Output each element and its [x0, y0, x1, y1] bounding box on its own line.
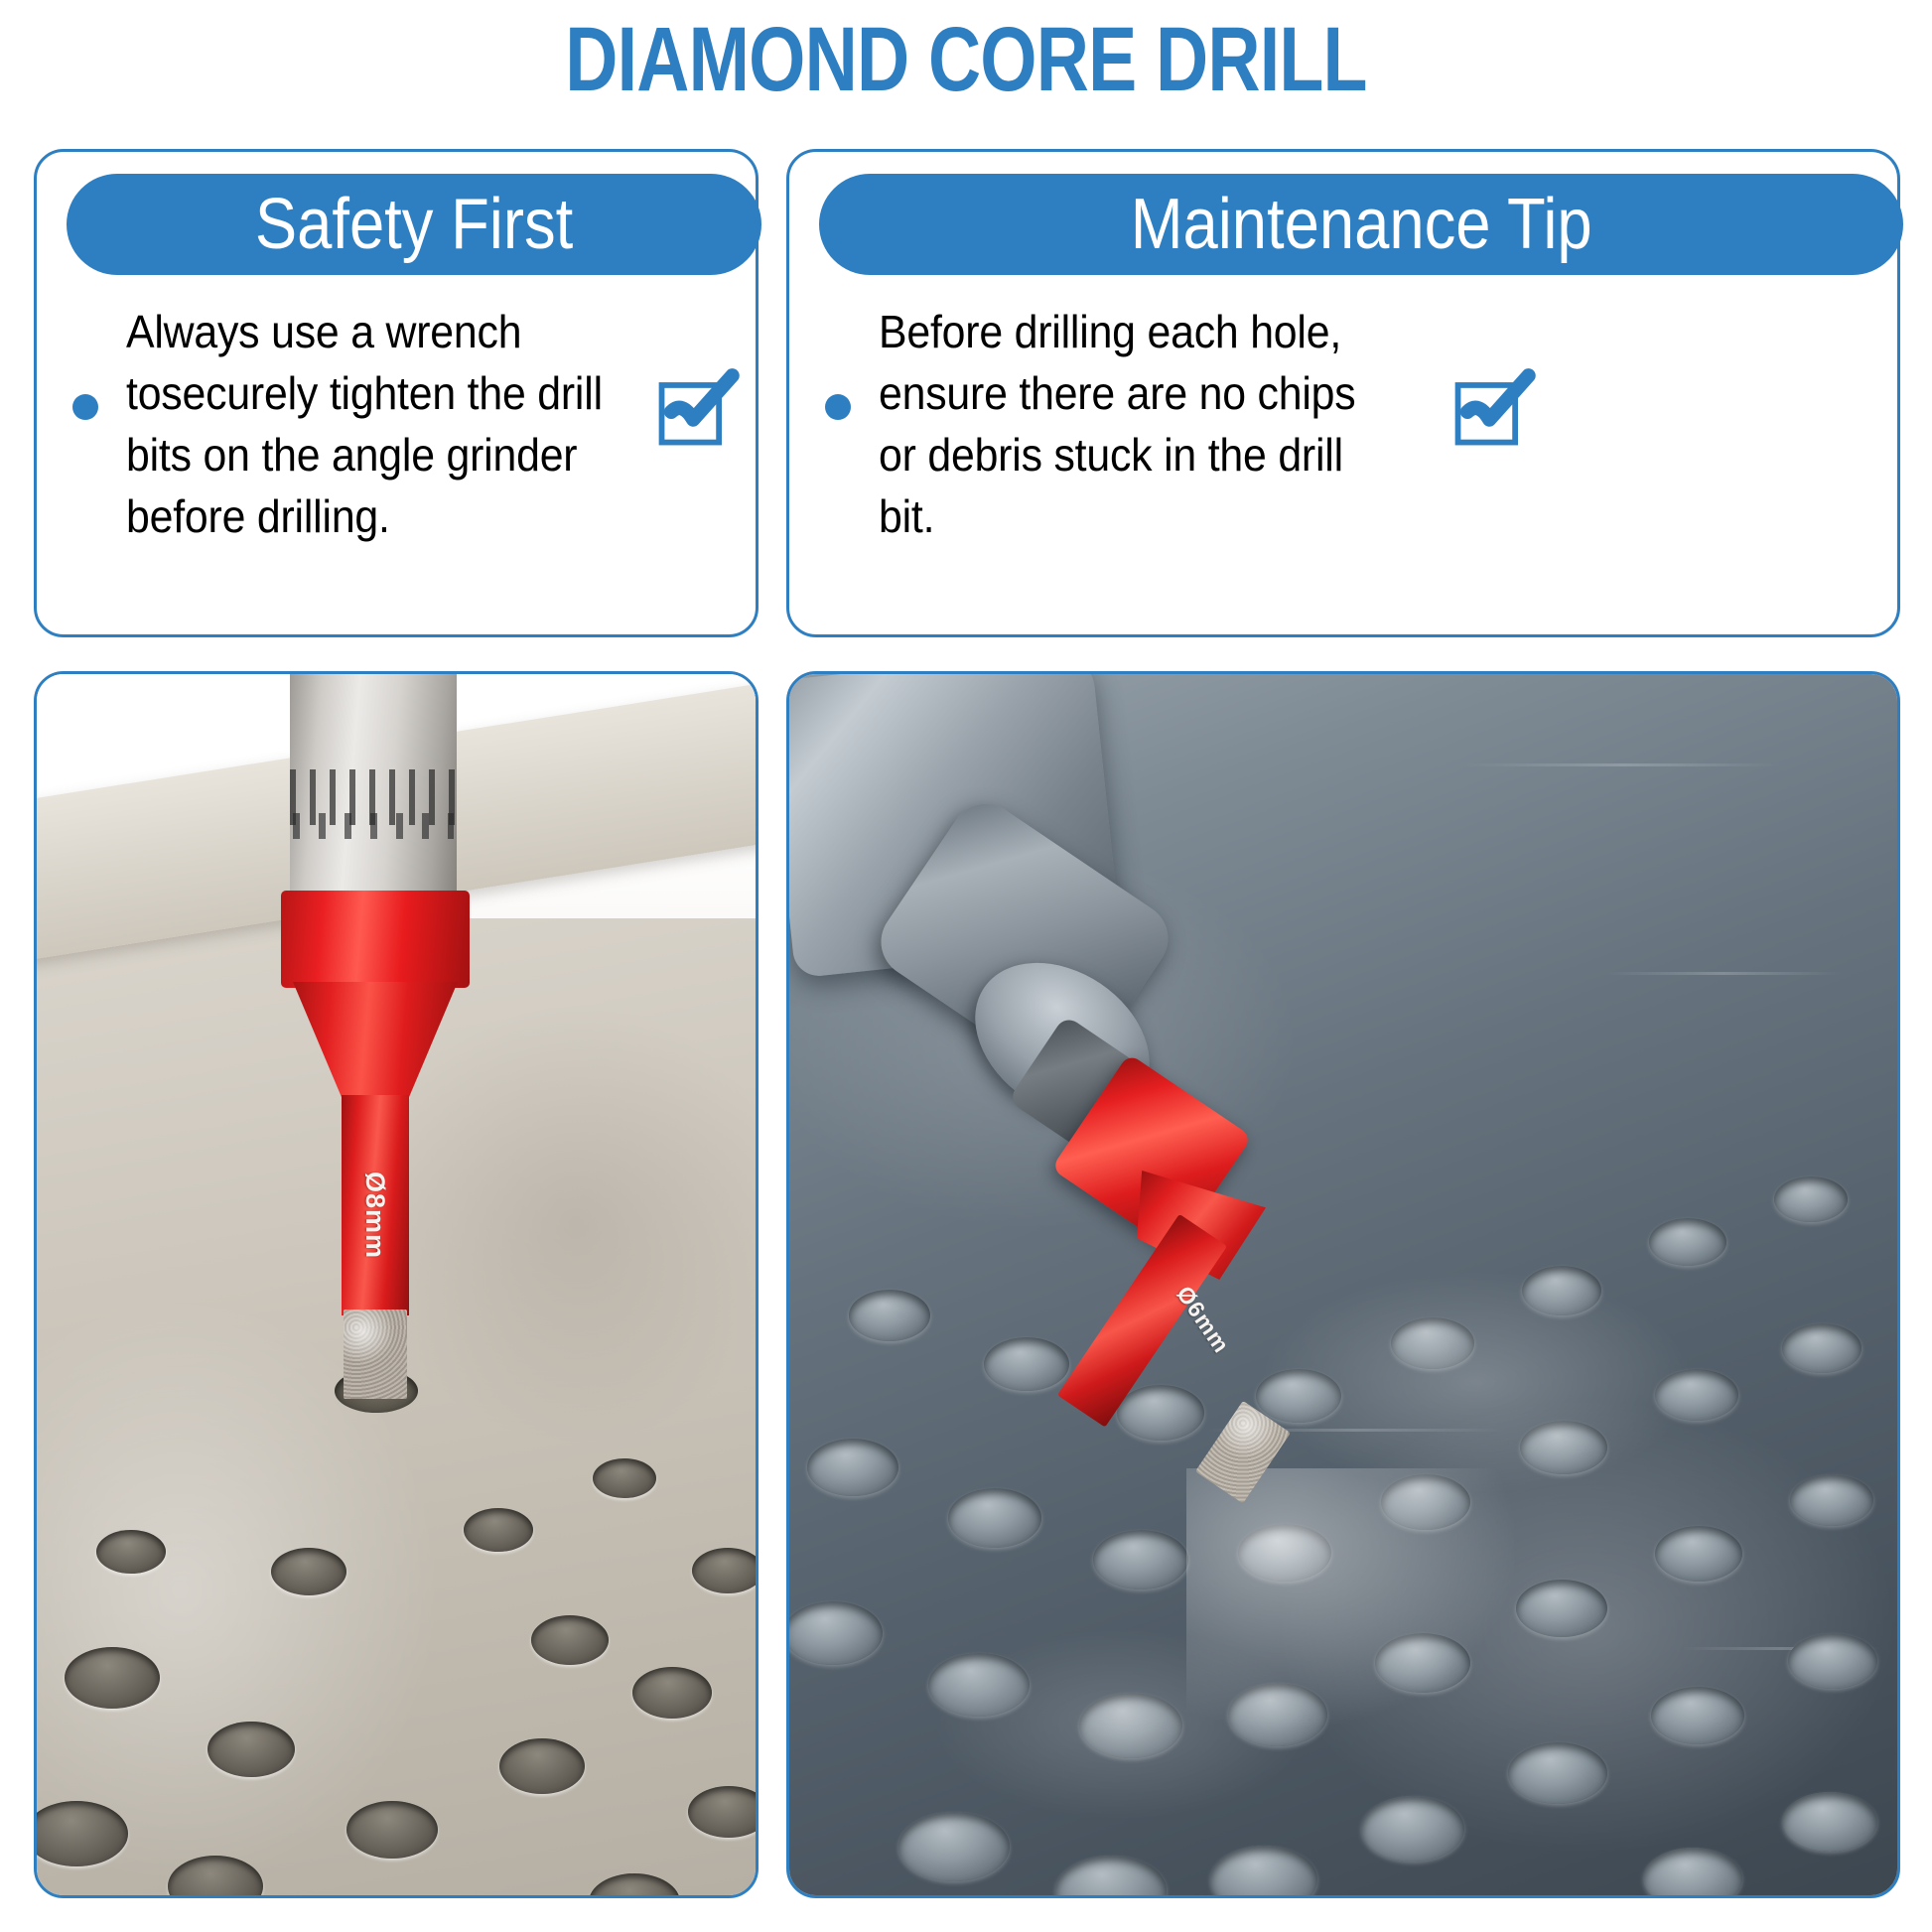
photo-concrete-scene: Ø8mm [37, 674, 756, 1895]
holder-serrations-lower [293, 813, 454, 839]
drilled-hole [531, 1615, 609, 1665]
drilled-hole [1516, 1580, 1607, 1637]
diamond-segment-tip [344, 1310, 407, 1399]
maintenance-check-wrap [1441, 301, 1542, 456]
drilled-hole [984, 1337, 1069, 1391]
drilled-hole [928, 1653, 1030, 1717]
maintenance-tip-card: Maintenance Tip Before drilling each hol… [786, 149, 1900, 637]
drilled-hole [1381, 1474, 1470, 1530]
drilled-hole [632, 1667, 712, 1719]
drilled-hole [1256, 1369, 1341, 1423]
page-title: DIAMOND CORE DRILL [194, 14, 1739, 105]
surface-streak [1464, 763, 1782, 766]
drilled-hole [948, 1488, 1041, 1548]
drilled-hole [1117, 1385, 1204, 1441]
drilled-hole [1228, 1683, 1327, 1746]
drilled-hole [1375, 1633, 1470, 1693]
safety-first-body: Always use a wrench tosecurely tighten t… [37, 301, 756, 634]
safety-first-header-label: Safety First [255, 189, 573, 260]
drilled-hole [346, 1801, 438, 1859]
drilled-hole [1655, 1369, 1738, 1421]
drilled-hole [1508, 1742, 1607, 1804]
bullet-dot-icon [825, 394, 851, 420]
drilled-hole [65, 1647, 160, 1709]
drilled-hole [1238, 1524, 1331, 1582]
drill-bit-collar [281, 891, 470, 988]
checkbox-checked-icon [1447, 360, 1542, 456]
maintenance-tip-header-label: Maintenance Tip [1131, 189, 1592, 260]
drilled-hole [96, 1530, 166, 1574]
drilled-hole [1079, 1693, 1182, 1758]
drilled-hole [593, 1458, 656, 1498]
drill-bit-size-label: Ø8mm [301, 1181, 450, 1249]
drilled-hole [1651, 1687, 1744, 1744]
surface-streak [1603, 972, 1842, 975]
photo-slate-scene: Ø6mm [789, 674, 1897, 1895]
product-photo-slate: Ø6mm [786, 671, 1900, 1898]
drilled-hole [207, 1722, 295, 1777]
drilled-hole [1790, 1474, 1873, 1526]
maintenance-tip-body: Before drilling each hole, ensure there … [789, 301, 1897, 634]
drilled-hole [1391, 1317, 1474, 1369]
drilled-hole [807, 1439, 898, 1496]
drilled-hole [1788, 1633, 1877, 1689]
maintenance-tip-bullet-text: Before drilling each hole, ensure there … [879, 301, 1396, 547]
drilled-hole [1655, 1526, 1742, 1582]
drilled-hole [1361, 1796, 1464, 1862]
product-photo-concrete: Ø8mm [34, 671, 759, 1898]
safety-first-card: Safety First Always use a wrench tosecur… [34, 149, 759, 637]
drilled-hole [692, 1548, 756, 1593]
drilled-hole [1522, 1266, 1601, 1315]
drilled-hole [1774, 1176, 1848, 1222]
checkbox-checked-icon [650, 360, 746, 456]
drilled-hole [1782, 1323, 1862, 1373]
drilled-hole [499, 1738, 585, 1794]
drilled-hole [464, 1508, 533, 1552]
maintenance-tip-header: Maintenance Tip [819, 174, 1903, 275]
safety-first-header: Safety First [67, 174, 761, 275]
safety-check-wrap [644, 301, 746, 456]
drilled-hole [898, 1812, 1010, 1881]
drilled-hole [849, 1290, 930, 1341]
drilled-hole [1782, 1792, 1877, 1852]
drilled-hole [1520, 1421, 1607, 1474]
safety-first-bullet-text: Always use a wrench tosecurely tighten t… [126, 301, 620, 547]
drilled-hole [1093, 1530, 1188, 1589]
bullet-dot-icon [72, 394, 98, 420]
drilled-hole [271, 1548, 346, 1595]
drilled-hole [1649, 1218, 1726, 1266]
